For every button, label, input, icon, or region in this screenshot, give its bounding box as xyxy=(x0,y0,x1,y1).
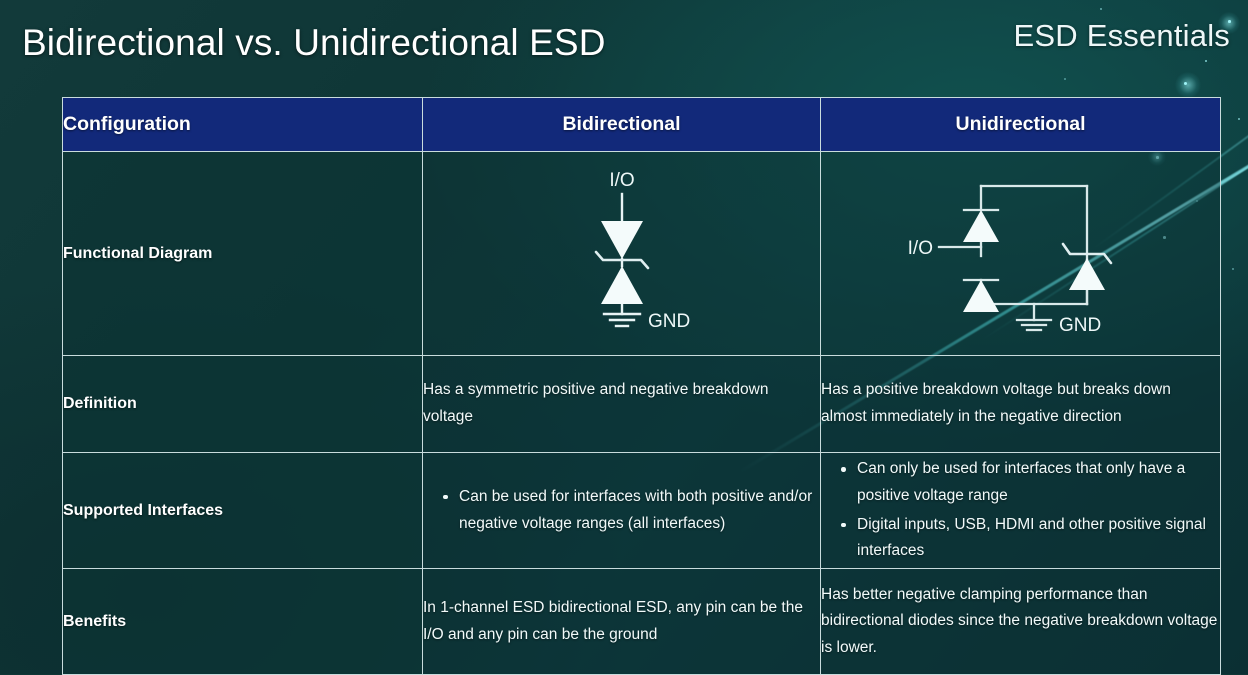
zener-diode xyxy=(1069,258,1105,290)
diode-triangle-upper xyxy=(601,221,643,259)
table-header-row: Configuration Bidirectional Unidirection… xyxy=(63,98,1221,152)
star-dot xyxy=(1232,268,1234,270)
io-label: I/O xyxy=(609,170,634,191)
bullet-list: Can be used for interfaces with both pos… xyxy=(423,484,820,537)
deck-label: ESD Essentials xyxy=(1014,18,1230,54)
header-bidirectional: Bidirectional xyxy=(423,98,821,152)
list-item: Can only be used for interfaces that onl… xyxy=(841,456,1220,509)
benefits-unidirectional: Has better negative clamping performance… xyxy=(821,569,1221,675)
list-item: Digital inputs, USB, HDMI and other posi… xyxy=(841,512,1220,565)
header-configuration: Configuration xyxy=(63,98,423,152)
table-row: Benefits In 1-channel ESD bidirectional … xyxy=(63,569,1221,675)
star-dot xyxy=(1184,82,1187,85)
row-label-definition: Definition xyxy=(63,356,423,453)
unidirectional-functional-diagram: I/O GND xyxy=(821,152,1221,356)
table-row: Supported Interfaces Can be used for int… xyxy=(63,453,1221,569)
bokeh-glow xyxy=(1175,72,1201,98)
table-row: Functional Diagram xyxy=(63,152,1221,356)
definition-bidirectional: Has a symmetric positive and negative br… xyxy=(423,356,821,453)
row-label-functional-diagram: Functional Diagram xyxy=(63,152,423,356)
list-item: Can be used for interfaces with both pos… xyxy=(443,484,820,537)
bullet-list: Can only be used for interfaces that onl… xyxy=(821,456,1220,565)
table-body: Functional Diagram xyxy=(63,152,1221,675)
steering-diode-upper xyxy=(963,210,999,242)
star-dot xyxy=(1238,118,1240,120)
star-dot xyxy=(1100,8,1102,10)
page-title: Bidirectional vs. Unidirectional ESD xyxy=(22,22,606,64)
table-row: Definition Has a symmetric positive and … xyxy=(63,356,1221,453)
comparison-table: Configuration Bidirectional Unidirection… xyxy=(62,97,1221,675)
steering-diode-lower xyxy=(963,280,999,312)
header-unidirectional: Unidirectional xyxy=(821,98,1221,152)
star-dot xyxy=(1205,60,1207,62)
gnd-label: GND xyxy=(1059,315,1101,336)
row-label-benefits: Benefits xyxy=(63,569,423,675)
unidirectional-tvs-schematic: I/O GND xyxy=(891,164,1151,344)
supported-interfaces-bidirectional: Can be used for interfaces with both pos… xyxy=(423,453,821,569)
supported-interfaces-unidirectional: Can only be used for interfaces that onl… xyxy=(821,453,1221,569)
bidirectional-tvs-schematic: I/O GND xyxy=(517,164,727,344)
benefits-bidirectional: In 1-channel ESD bidirectional ESD, any … xyxy=(423,569,821,675)
row-label-supported-interfaces: Supported Interfaces xyxy=(63,453,423,569)
definition-unidirectional: Has a positive breakdown voltage but bre… xyxy=(821,356,1221,453)
bidirectional-functional-diagram: I/O GND xyxy=(423,152,821,356)
gnd-label: GND xyxy=(648,311,690,332)
io-label: I/O xyxy=(907,238,932,259)
table-header: Configuration Bidirectional Unidirection… xyxy=(63,98,1221,152)
diode-triangle-lower xyxy=(601,266,643,304)
star-dot xyxy=(1064,78,1066,80)
